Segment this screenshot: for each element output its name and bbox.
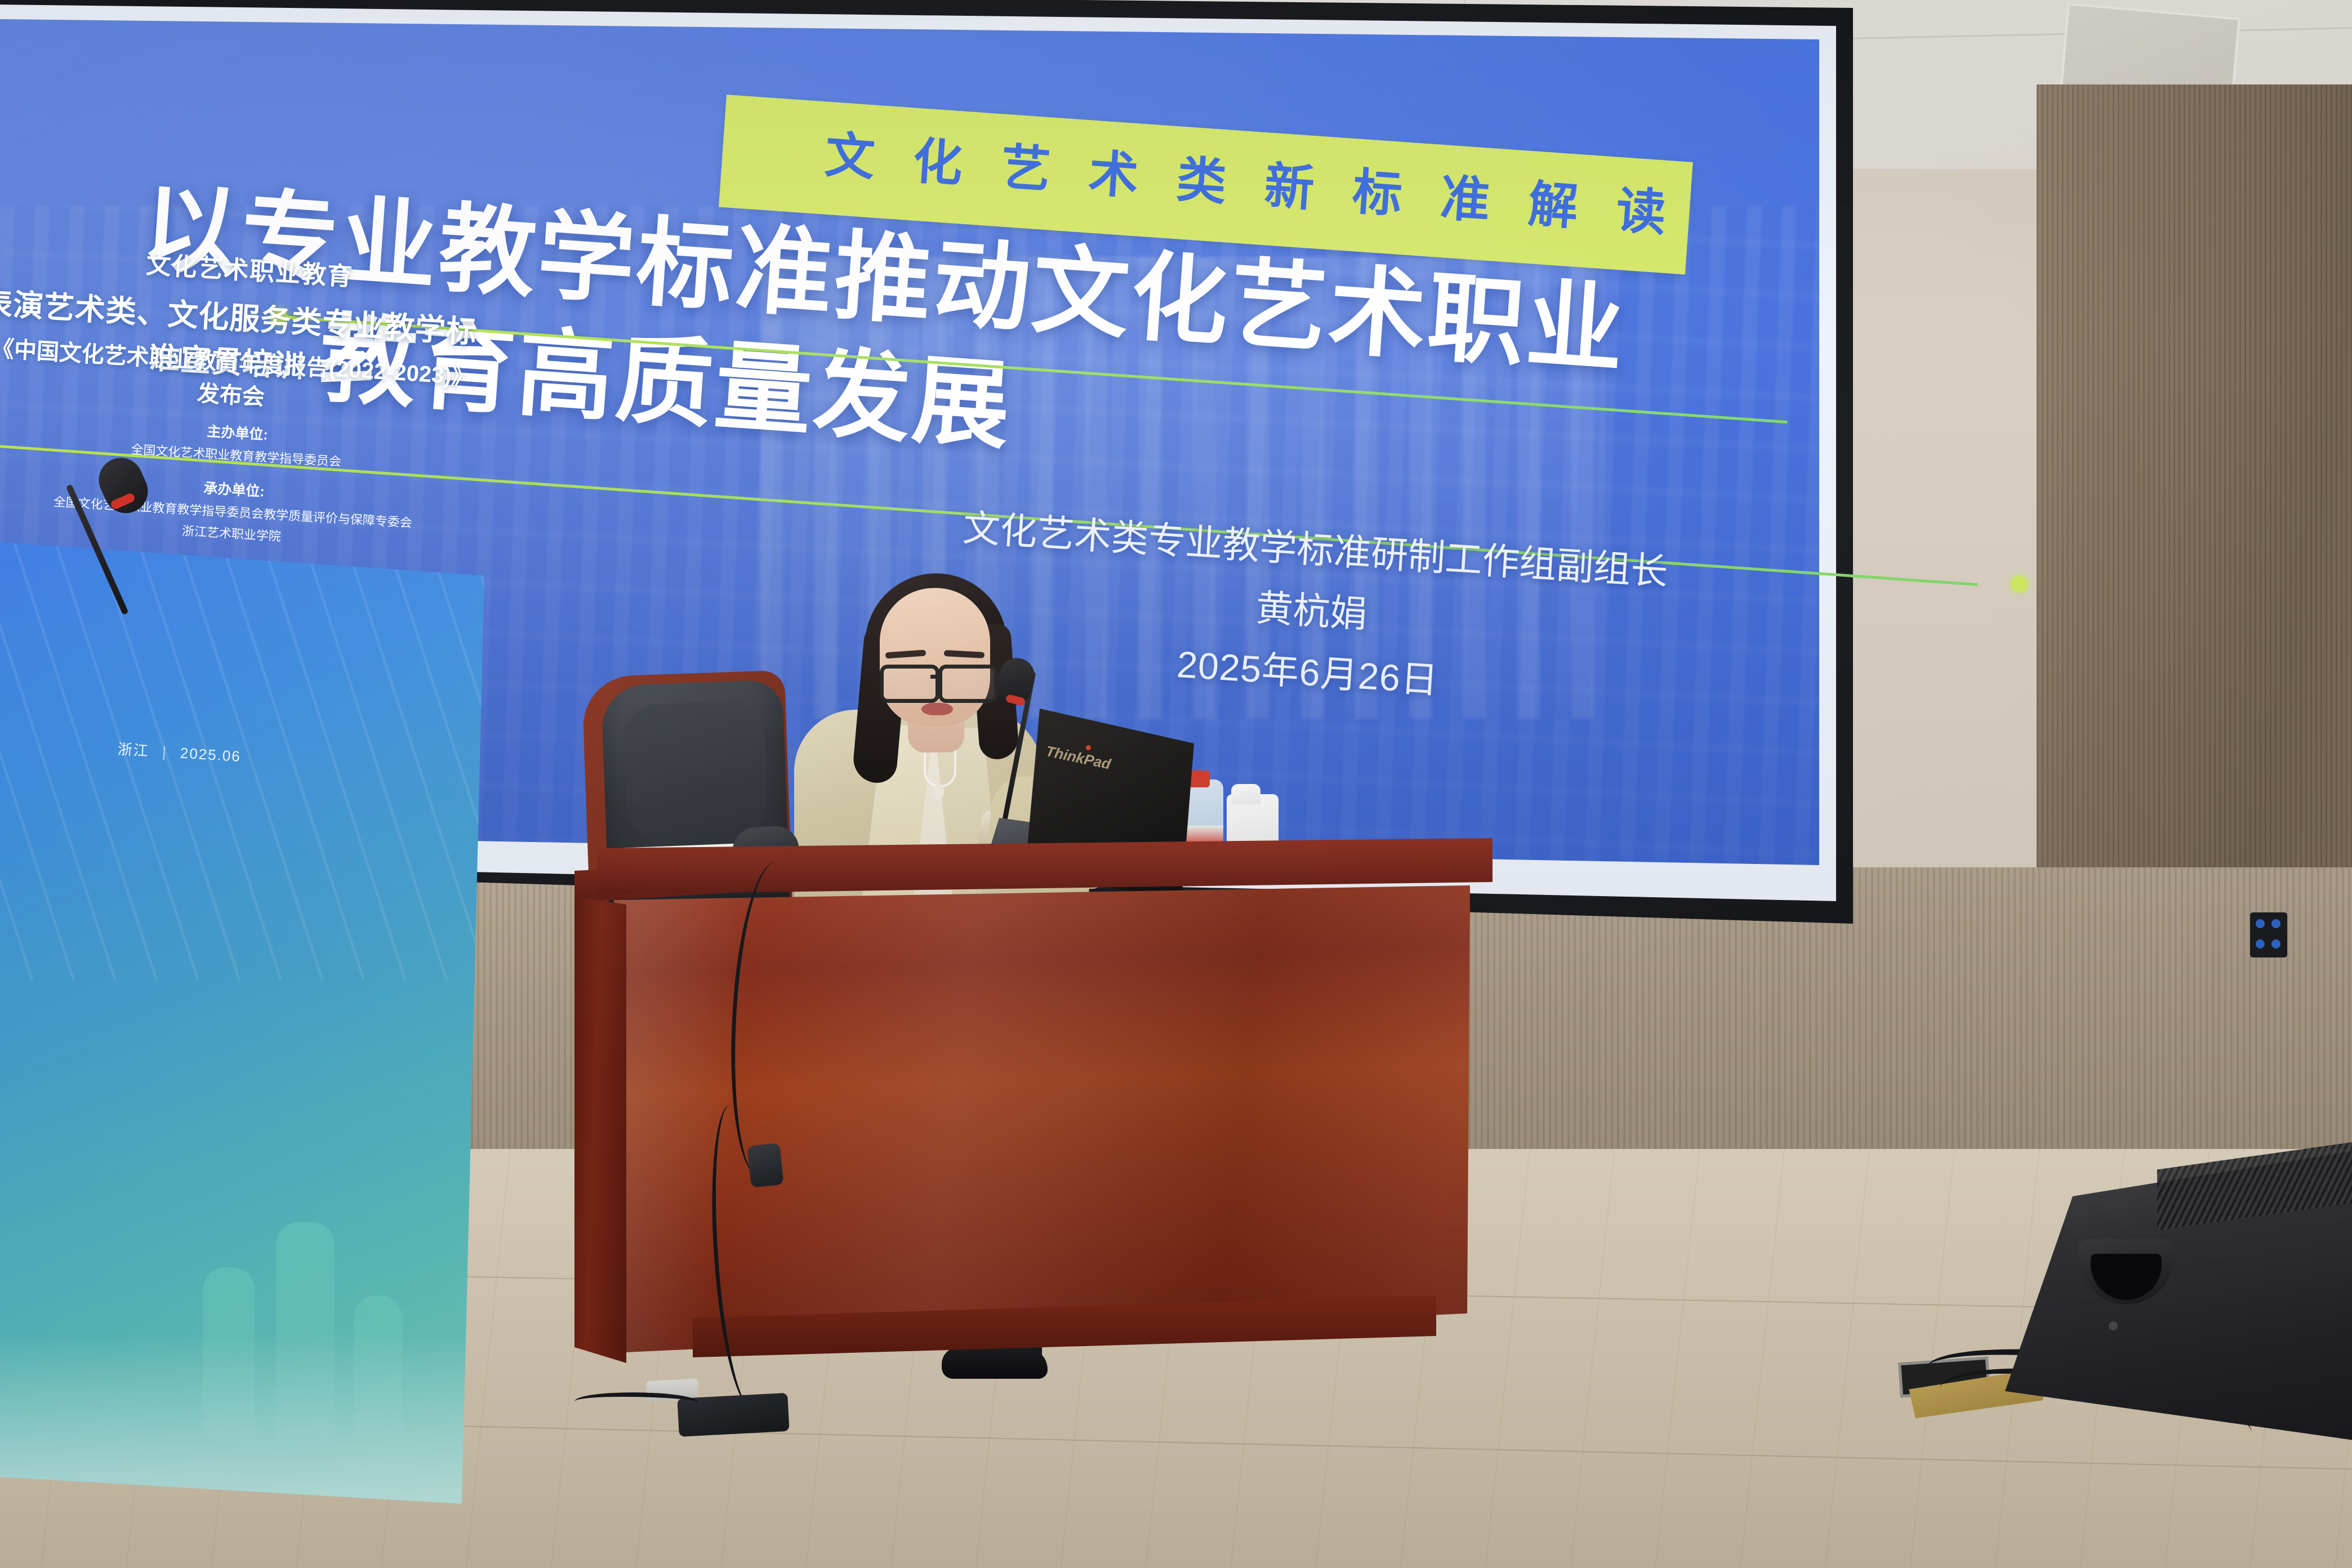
eyeglasses-bridge [930, 675, 941, 679]
desk-side-panel [574, 897, 626, 1370]
speaker-screw-icon [2109, 1321, 2118, 1330]
presenter-shoe [942, 1347, 1048, 1379]
banner-organizers: 主办单位: 全国文化艺术职业教育教学指导委员会 承办单位: 全国文化艺术职业教育… [9, 394, 461, 555]
rollup-banner [0, 541, 484, 1504]
cable-clip [747, 1143, 783, 1188]
banner-footer-date: 2025.06 [180, 745, 242, 765]
eyeglasses-icon [938, 665, 998, 703]
paper-cup-lid [1231, 784, 1260, 804]
banner-footer-province: 浙江 [117, 741, 150, 759]
presentation-room-photo: 文 化 艺 术 类 新 标 准 解 读 以专业教学标准推动文化艺术职业 教育高质… [0, 0, 2352, 1568]
eyeglasses-icon [880, 665, 939, 703]
presenter-pendant [933, 784, 944, 800]
presenter-necklace [924, 749, 956, 787]
wall-socket[interactable] [2250, 912, 2287, 957]
accent-dot-right [2011, 576, 2028, 593]
banner-footer-separator: | [162, 743, 168, 760]
presenter-mouth [921, 703, 953, 715]
banner-fog [0, 1335, 484, 1504]
